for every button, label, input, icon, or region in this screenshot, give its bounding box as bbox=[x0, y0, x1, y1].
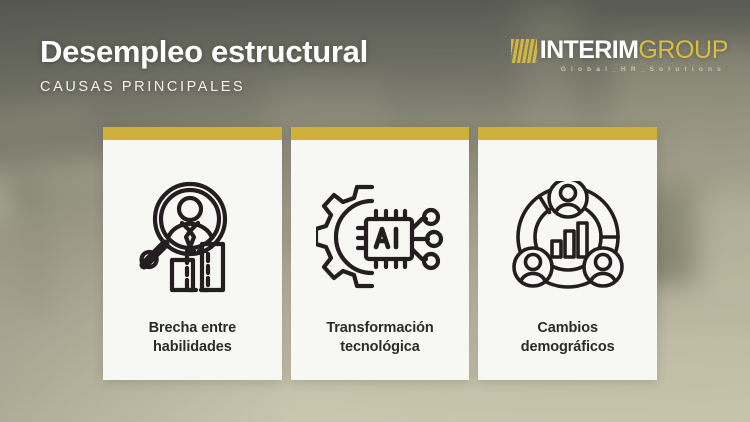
page-title: Desempleo estructural bbox=[40, 36, 368, 69]
slide-canvas: Desempleo estructural CAUSAS PRINCIPALES… bbox=[0, 0, 750, 422]
card-body: Transformación tecnológica bbox=[291, 140, 470, 380]
people-ring-barchart-icon bbox=[488, 156, 647, 319]
cards-row: Brecha entre habilidades bbox=[103, 127, 657, 380]
magnifier-person-barchart-icon bbox=[113, 156, 272, 319]
header-block: Desempleo estructural CAUSAS PRINCIPALES bbox=[40, 36, 368, 95]
card-cambios-demograficos[interactable]: Cambios demográficos bbox=[478, 127, 657, 380]
logo-tagline: Global_HR_Solutions bbox=[511, 66, 728, 73]
logo-name-secondary: GROUP bbox=[638, 36, 728, 65]
striped-bars-mark-icon bbox=[511, 39, 537, 63]
card-body: Cambios demográficos bbox=[478, 140, 657, 380]
card-body: Brecha entre habilidades bbox=[103, 140, 282, 380]
card-brecha-habilidades[interactable]: Brecha entre habilidades bbox=[103, 127, 282, 380]
card-label: Cambios demográficos bbox=[521, 319, 615, 358]
gear-ai-chip-icon bbox=[301, 156, 460, 319]
page-subtitle: CAUSAS PRINCIPALES bbox=[40, 79, 368, 95]
card-transformacion-tecnologica[interactable]: Transformación tecnológica bbox=[291, 127, 470, 380]
card-label: Brecha entre habilidades bbox=[149, 319, 236, 358]
logo-wordmark-row: INTERIM GROUP bbox=[511, 36, 728, 65]
card-accent-bar bbox=[291, 127, 470, 140]
card-label: Transformación tecnológica bbox=[326, 319, 433, 358]
logo-name-primary: INTERIM bbox=[540, 36, 639, 65]
card-accent-bar bbox=[478, 127, 657, 140]
card-accent-bar bbox=[103, 127, 282, 140]
brand-logo: INTERIM GROUP Global_HR_Solutions bbox=[511, 36, 728, 73]
